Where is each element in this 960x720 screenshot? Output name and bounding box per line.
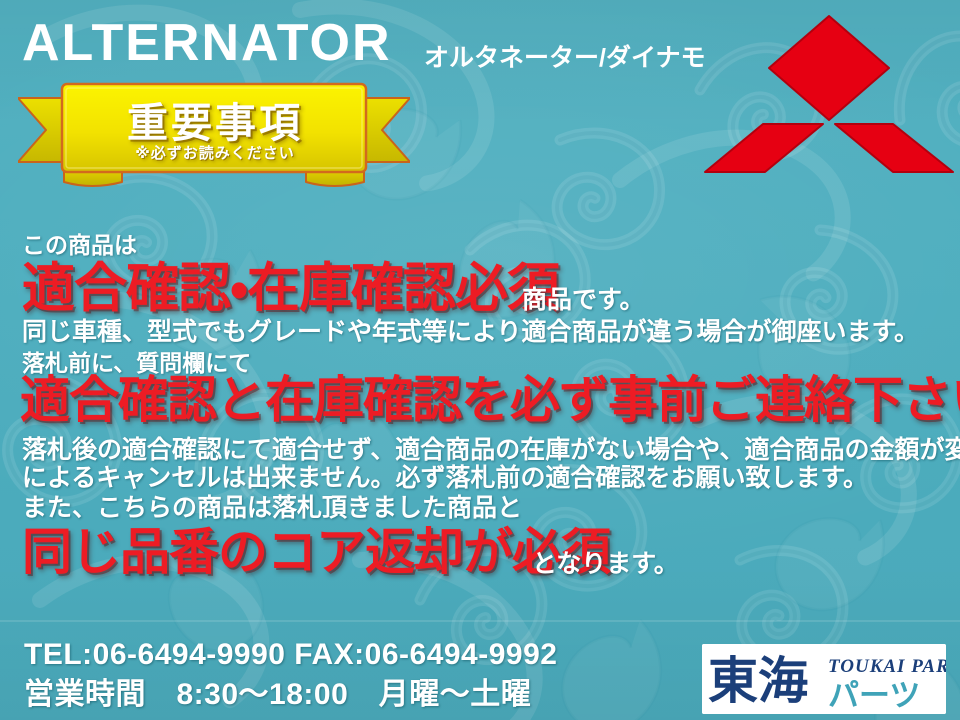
notice-intro: この商品は xyxy=(22,234,137,257)
alternator-promo-banner: ALTERNATOR オルタネーター/ダイナモ xyxy=(0,0,960,720)
contact-phone-fax: TEL:06-6494-9990 FAX:06-6494-9992 xyxy=(24,640,557,670)
business-hours: 営業時間 8:30〜18:00 月曜〜土曜 xyxy=(24,680,531,710)
notice-sub-1: 同じ車種、型式でもグレードや年式等により適合商品が違う場合が御座います。 xyxy=(22,320,919,345)
page-subtitle: オルタネーター/ダイナモ xyxy=(424,46,705,71)
logo-kanji: 東海 xyxy=(708,652,808,710)
toukai-parts-logo: 東海 TOUKAI PARTS パーツ xyxy=(702,644,946,714)
toukai-parts-logo-art: 東海 TOUKAI PARTS パーツ xyxy=(702,644,946,714)
footer-divider xyxy=(0,620,960,622)
notice-intro-2: 落札前に、質問欄にて xyxy=(22,352,251,375)
notice-paragraph-1: 落札後の適合確認にて適合せず、適合商品の在庫がない場合や、適合商品の金額が変わる… xyxy=(22,438,960,463)
notice-headline-1: 適合確認・在庫確認必須 xyxy=(22,262,559,315)
notice-headline-2: 適合確認と在庫確認を必ず事前ご連絡下さい。 xyxy=(20,375,960,425)
logo-romaji: TOUKAI PARTS xyxy=(828,656,946,677)
notice-headline-3-tail: となります。 xyxy=(532,552,679,577)
logo-katakana: パーツ xyxy=(828,678,920,714)
mitsubishi-three-diamond-icon xyxy=(703,8,955,192)
notice-paragraph-3: また、こちらの商品は落札頂きました商品と xyxy=(22,496,522,521)
notice-headline-1-tail: 商品です。 xyxy=(522,288,645,313)
important-notice-ribbon xyxy=(18,78,410,188)
page-title: ALTERNATOR xyxy=(22,17,392,69)
notice-paragraph-2: によるキャンセルは出来ません。必ず落札前の適合確認をお願い致します。 xyxy=(22,466,868,491)
notice-headline-3: 同じ品番のコア返却が必須 xyxy=(22,527,610,577)
